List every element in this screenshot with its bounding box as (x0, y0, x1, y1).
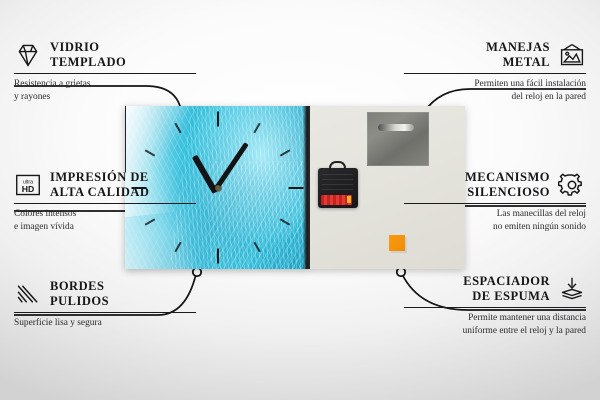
arrow-into-layers-icon (558, 276, 586, 302)
clock-tick (253, 123, 260, 134)
feature-impresion-alta-calidad: ultra HD IMPRESIÓN DE ALTA CALIDAD Color… (14, 170, 196, 233)
feature-bordes-pulidos: BORDES PULIDOS Superficie lisa y segura (14, 279, 196, 330)
battery-terminal (347, 196, 351, 203)
feature-vidrio-templado: VIDRIO TEMPLADO Resistencia a grietas y … (14, 40, 196, 103)
mechanism-hook (329, 161, 346, 172)
diamond-icon (14, 42, 42, 68)
clock-second-hand (125, 106, 126, 172)
feature-description: Permite mantener una distancia uniforme … (404, 312, 586, 337)
infographic-stage: VIDRIO TEMPLADO Resistencia a grietas y … (0, 0, 600, 400)
clock-tick (253, 242, 260, 253)
clock-tick (289, 187, 304, 189)
feature-divider (14, 203, 196, 205)
feature-divider (404, 203, 586, 205)
battery (321, 195, 352, 205)
feature-manejas-metal: MANEJAS METAL Permiten una fácil instala… (404, 40, 586, 103)
svg-text:HD: HD (22, 184, 35, 194)
feature-title: IMPRESIÓN DE ALTA CALIDAD (50, 170, 149, 200)
feature-description: Colores intensos e imagen vívida (14, 208, 196, 233)
feature-divider (404, 307, 586, 309)
feature-description: Superficie lisa y segura (14, 317, 196, 329)
feature-espaciador-espuma: ESPACIADOR DE ESPUMA Permite mantener un… (404, 274, 586, 337)
feature-header: VIDRIO TEMPLADO (14, 40, 196, 70)
feature-divider (14, 312, 196, 314)
feature-header: ultra HD IMPRESIÓN DE ALTA CALIDAD (14, 170, 196, 200)
clock-mechanism (318, 168, 358, 208)
clock-tick (175, 242, 182, 253)
clock-minute-hand (213, 142, 248, 190)
hanger-slot (378, 124, 414, 131)
feature-description: Permiten una fácil instalación del reloj… (404, 78, 586, 103)
clock-tick (217, 249, 219, 264)
feature-title: MANEJAS METAL (486, 40, 550, 70)
polished-edges-icon (14, 281, 42, 307)
feature-description: Resistencia a grietas y rayones (14, 78, 196, 103)
anchor-bordes (193, 268, 201, 276)
feature-title: VIDRIO TEMPLADO (50, 40, 126, 70)
clock-tick (144, 150, 155, 157)
feature-header: MANEJAS METAL (404, 40, 586, 70)
feature-divider (14, 73, 196, 75)
picture-hanger-icon (558, 42, 586, 68)
clock-tick (280, 218, 291, 225)
metal-hanger-plate (367, 112, 429, 166)
clock-tick (280, 150, 291, 157)
gear-icon (558, 172, 586, 198)
clock-tick (175, 123, 182, 134)
foam-spacer (389, 235, 405, 251)
mechanism-detail (322, 174, 353, 191)
feature-description: Las manecillas del reloj no emiten ningú… (404, 208, 586, 233)
clock-tick (217, 112, 219, 127)
ultra-hd-icon: ultra HD (14, 172, 42, 198)
clock-center-cap (215, 185, 221, 191)
feature-title: BORDES PULIDOS (50, 279, 109, 309)
feature-divider (404, 73, 586, 75)
feature-header: ESPACIADOR DE ESPUMA (404, 274, 586, 304)
feature-header: MECANISMO SILENCIOSO (404, 170, 586, 200)
feature-mecanismo-silencioso: MECANISMO SILENCIOSO Las manecillas del … (404, 170, 586, 233)
feature-header: BORDES PULIDOS (14, 279, 196, 309)
feature-title: MECANISMO SILENCIOSO (465, 170, 550, 200)
feature-title: ESPACIADOR DE ESPUMA (463, 274, 550, 304)
